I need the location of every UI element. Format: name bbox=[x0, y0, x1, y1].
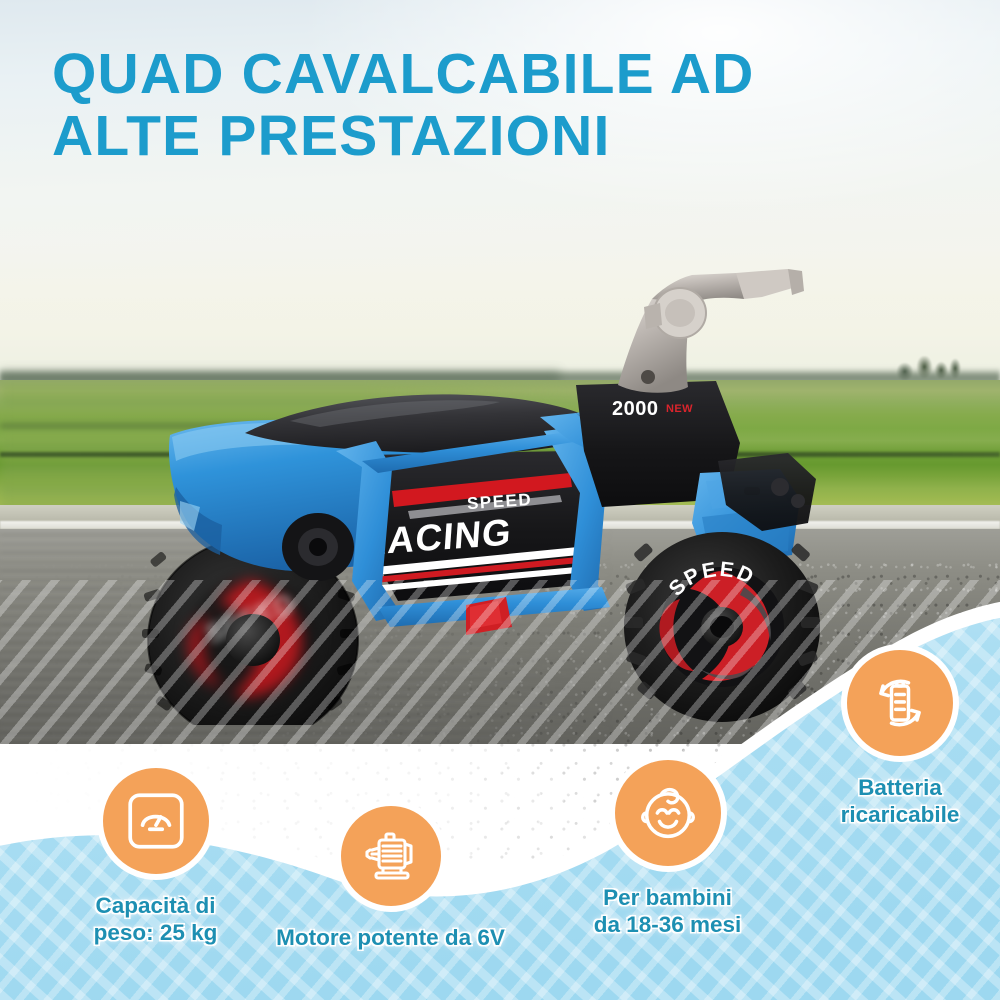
rechargeable-battery-icon bbox=[841, 644, 959, 762]
feature-label: Capacità di peso: 25 kg bbox=[38, 892, 273, 946]
tree-clump bbox=[895, 356, 965, 382]
decal-model-suffix-text: NEW bbox=[666, 403, 693, 415]
feature-rechargeable-battery[interactable]: Batteria ricaricabile bbox=[800, 644, 1000, 828]
weighing-scale-icon bbox=[97, 762, 215, 880]
feature-label: Batteria ricaricabile bbox=[800, 774, 1000, 828]
infographic-canvas: SPEED SPEED RACING bbox=[0, 0, 1000, 1000]
handlebar-assembly bbox=[618, 269, 804, 393]
decal-model-text: 2000 bbox=[612, 398, 659, 420]
rear-axle-hub bbox=[282, 513, 354, 581]
feature-age-range[interactable]: Per bambini da 18-36 mesi bbox=[545, 754, 790, 938]
feature-label: Motore potente da 6V bbox=[258, 924, 523, 951]
baby-face-icon bbox=[609, 754, 727, 872]
page-title: QUAD CAVALCABILE AD ALTE PRESTAZIONI bbox=[52, 44, 952, 167]
feature-weight-capacity[interactable]: Capacità di peso: 25 kg bbox=[38, 762, 273, 946]
feature-motor-power[interactable]: Motore potente da 6V bbox=[258, 800, 523, 951]
electric-motor-icon bbox=[335, 800, 447, 912]
feature-label: Per bambini da 18-36 mesi bbox=[545, 884, 790, 938]
